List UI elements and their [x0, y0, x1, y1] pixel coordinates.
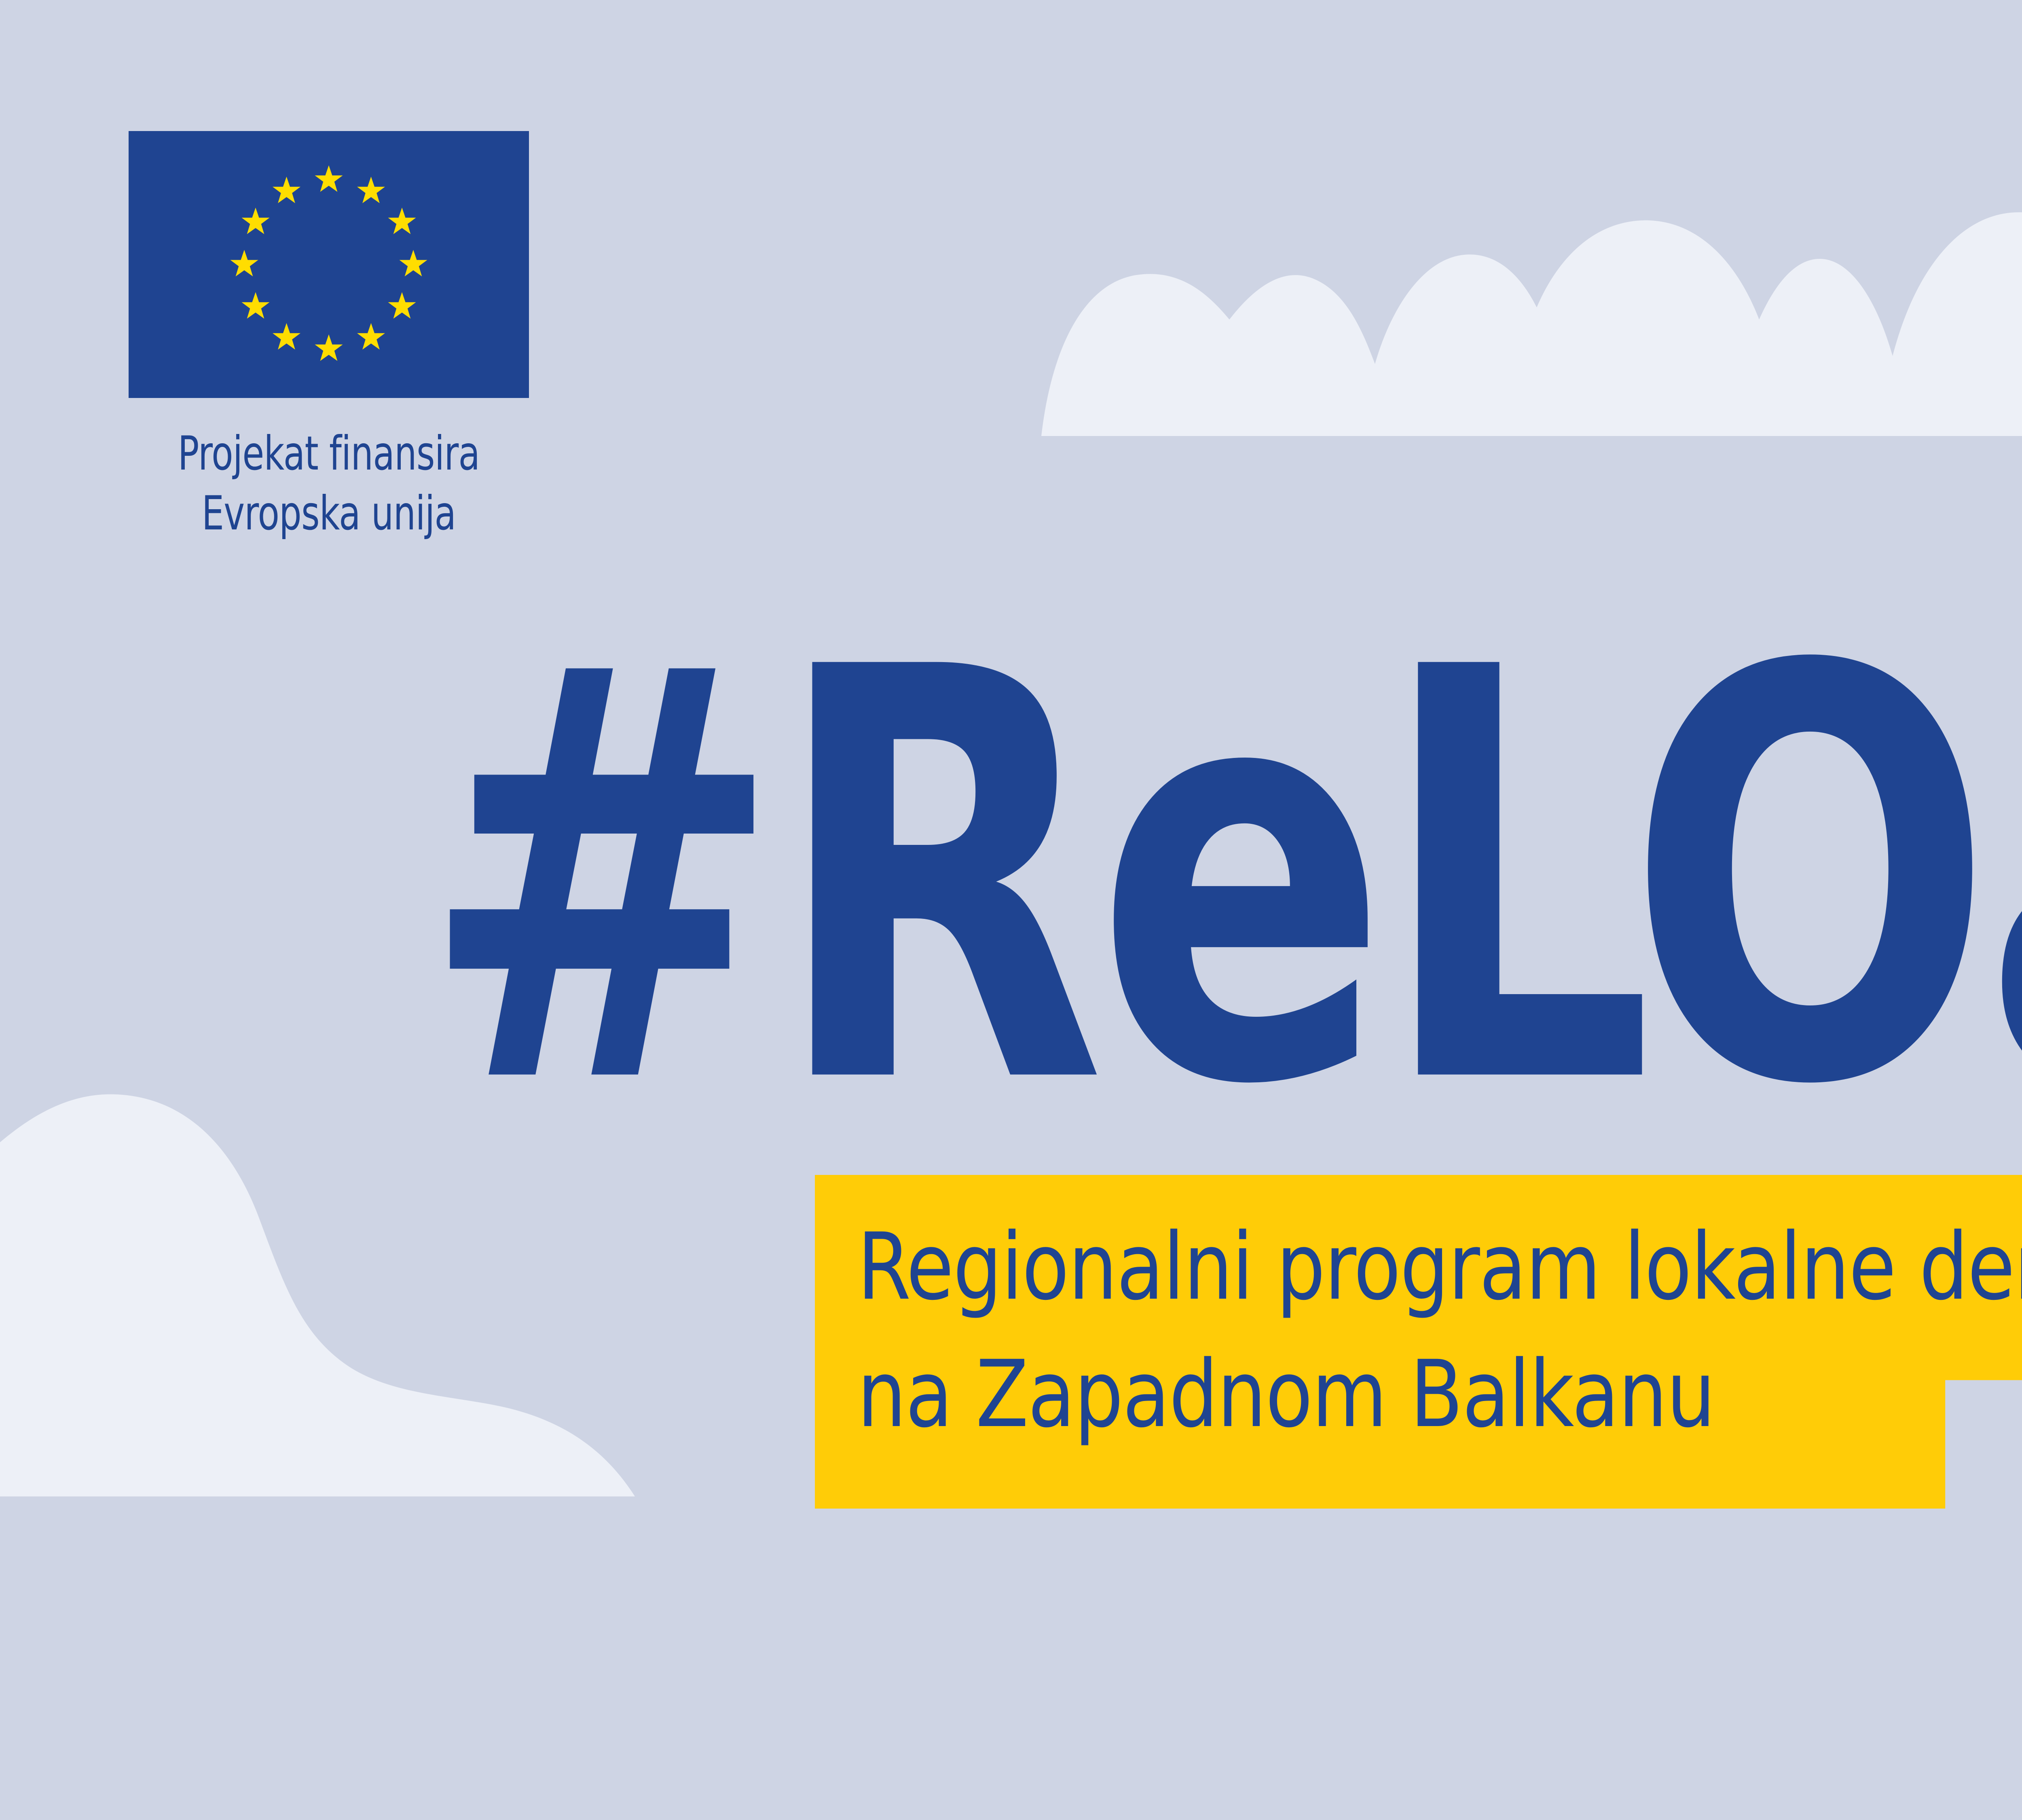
eu-funding-caption: Projekat finansira Evropska unija — [161, 424, 497, 544]
eu-funding-block: Projekat finansira Evropska unija — [129, 129, 529, 544]
cloud-top-center-icon — [1041, 212, 2022, 436]
banner-canvas: Projekat finansira Evropska unija — [0, 0, 2022, 1820]
eu-flag-icon — [129, 129, 529, 400]
subtitle-text: Regionalni program lokalne demokratije n… — [857, 1203, 2022, 1458]
page-title: #ReLOaD — [421, 619, 2022, 1139]
